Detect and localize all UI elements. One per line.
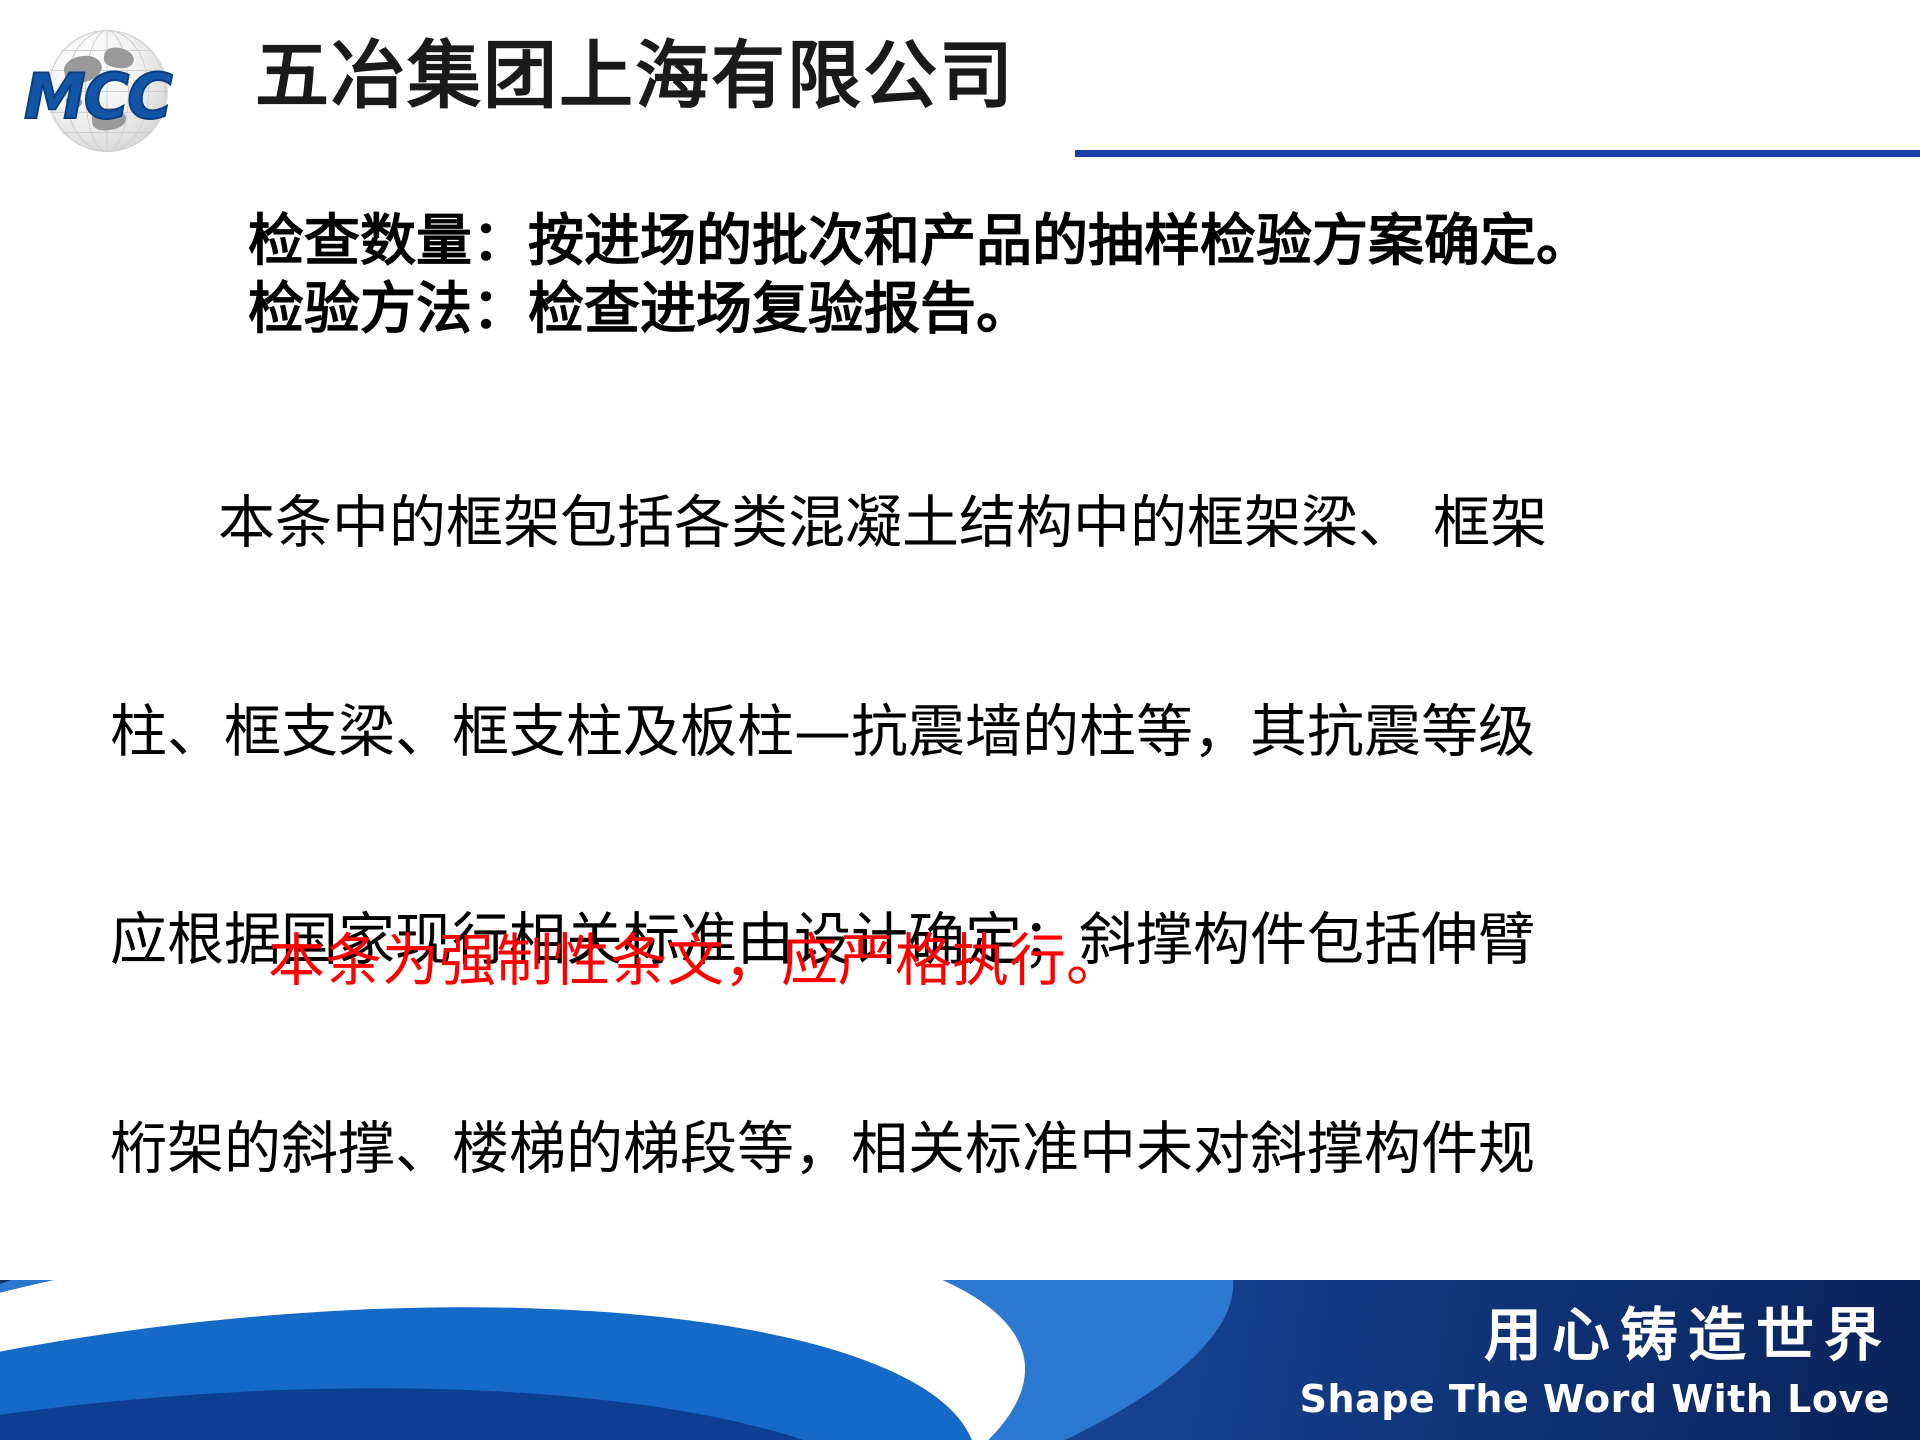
mandatory-clause-note: 本条为强制性条文，应严格执行。 xyxy=(268,915,1123,997)
mcc-logo: MCC xyxy=(22,26,242,156)
inspection-method-line: 检验方法：检查进场复验报告。 xyxy=(248,278,1032,343)
body-line-2: 柱、框支梁、框支柱及板柱—抗震墙的柱等，其抗震等级 xyxy=(110,698,1810,768)
slide: MCC 五冶集团上海有限公司 检查数量：按进场的批次和产品的抽样检验方案确定。 … xyxy=(0,0,1920,1440)
body-line-4: 桁架的斜撑、楼梯的梯段等，相关标准中未对斜撑构件规 xyxy=(110,1115,1810,1185)
inspection-quantity-line: 检查数量：按进场的批次和产品的抽样检验方案确定。 xyxy=(248,210,1592,275)
slide-footer: 用心铸造世界 Shape The Word With Love xyxy=(0,1280,1920,1440)
footer-slogan-en: Shape The Word With Love xyxy=(1300,1380,1890,1418)
company-name: 五冶集团上海有限公司 xyxy=(255,38,1015,116)
mcc-wordmark: MCC xyxy=(24,66,242,128)
body-paragraph: 本条中的框架包括各类混凝土结构中的框架梁、 框架 柱、框支梁、框支柱及板柱—抗震… xyxy=(110,350,1810,1440)
slide-header: MCC 五冶集团上海有限公司 xyxy=(0,0,1920,170)
header-divider xyxy=(1075,150,1920,157)
body-line-1-text: 本条中的框架包括各类混凝土结构中的框架梁、 框架 xyxy=(218,490,1547,556)
footer-slogan-cn: 用心铸造世界 xyxy=(1484,1306,1892,1364)
body-line-1: 本条中的框架包括各类混凝土结构中的框架梁、 框架 xyxy=(110,489,1810,559)
